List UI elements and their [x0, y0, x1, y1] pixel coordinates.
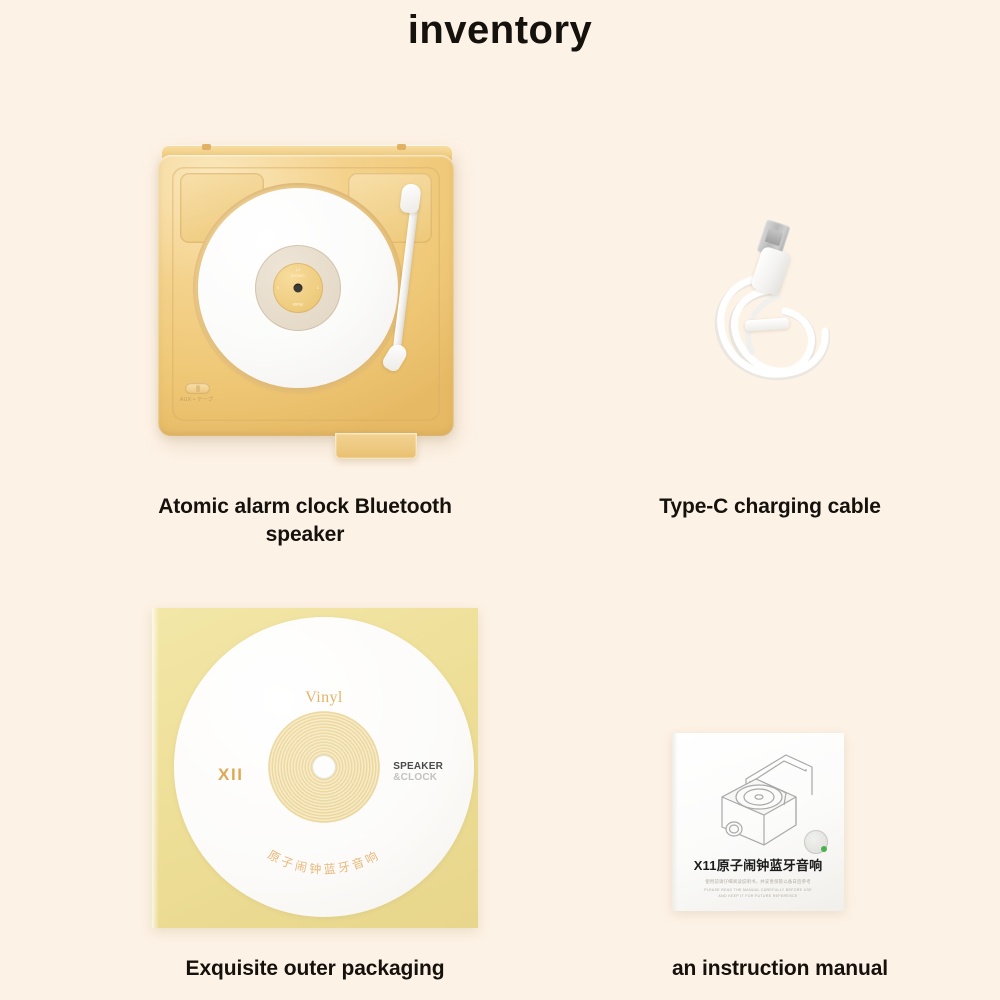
page-title: inventory [0, 8, 1000, 53]
aux-port-icon [185, 383, 210, 394]
product-manual: X11原子闹钟蓝牙音响 使用前请仔细阅读说明书，并妥善保管以备日后参考 PLEA… [672, 733, 844, 911]
label-tick-9: 9 [277, 286, 279, 290]
aux-port-label: AUX • テープ [180, 396, 213, 403]
speaker-spindle-hole [294, 284, 303, 293]
caption-speaker-line2: speaker [70, 521, 540, 549]
manual-subtitle-en-line2: AND KEEP IT FOR FUTURE REFERENCE [672, 894, 844, 898]
caption-speaker-line1: Atomic alarm clock Bluetooth [70, 493, 540, 521]
speaker-hinge-right [397, 144, 406, 150]
speaker-hinge-left [202, 144, 211, 150]
manual-subtitle-cn: 使用前请仔细阅读说明书，并妥善保管以备日后参考 [672, 879, 844, 885]
label-tick-3: 3 [317, 286, 319, 290]
packaging-box-edge [152, 608, 159, 928]
manual-subtitle-en-line1: PLEASE READ THE MANUAL CAREFULLY BEFORE … [672, 888, 844, 892]
packaging-disc-graphic: Vinyl XII SPEAKER &CLOCK 原子闹钟蓝牙音响 [174, 617, 474, 917]
tonearm-pivot-head [399, 183, 421, 214]
product-packaging: Vinyl XII SPEAKER &CLOCK 原子闹钟蓝牙音响 [152, 608, 478, 928]
caption-packaging-line1: Exquisite outer packaging [120, 955, 510, 983]
product-speaker: ATOMIC 12 3 9 RPM AUX • テープ [150, 135, 460, 455]
label-tick-12: 12 [296, 268, 300, 272]
svg-text:原子闹钟蓝牙音响: 原子闹钟蓝牙音响 [265, 847, 382, 877]
caption-cable-line1: Type-C charging cable [590, 493, 950, 521]
product-cable [690, 200, 870, 410]
speaker-base-stand [335, 433, 417, 459]
caption-packaging: Exquisite outer packaging [120, 955, 510, 983]
caption-manual-line1: an instruction manual [605, 955, 955, 983]
speaker-center-label: ATOMIC 12 3 9 RPM [273, 263, 323, 313]
label-rpm-text: RPM [293, 302, 303, 307]
caption-cable: Type-C charging cable [590, 493, 950, 521]
disc-bottom-chinese-text: 原子闹钟蓝牙音响 [174, 617, 474, 917]
manual-certification-badge [804, 830, 828, 854]
manual-turntable-line-art [700, 741, 818, 853]
speaker-body: ATOMIC 12 3 9 RPM AUX • テープ [158, 155, 454, 436]
manual-cover-title: X11原子闹钟蓝牙音响 [672, 855, 844, 874]
caption-manual: an instruction manual [605, 955, 955, 983]
label-brand-text: ATOMIC [291, 274, 305, 278]
caption-speaker: Atomic alarm clock Bluetooth speaker [70, 493, 540, 550]
